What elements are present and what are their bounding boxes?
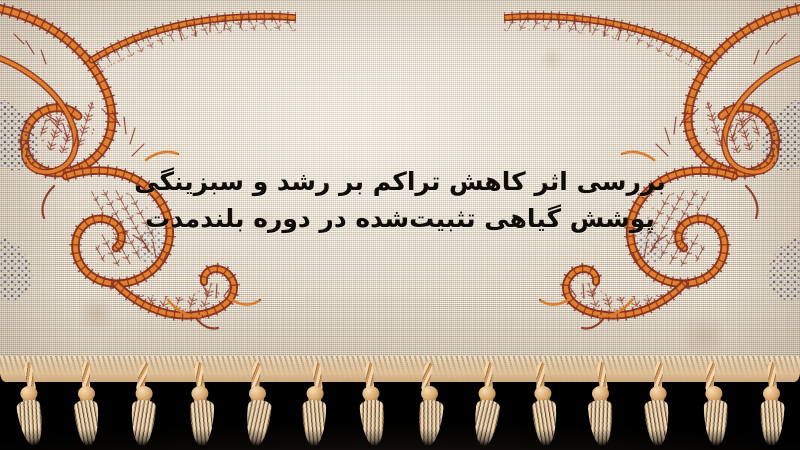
tassel-knot (78, 386, 95, 401)
tassel-skirt (416, 399, 445, 447)
tassel-skirt (73, 399, 100, 447)
tassel (12, 361, 46, 448)
tassel (697, 361, 731, 448)
tassel-skirt (244, 399, 273, 447)
tassel-skirt (704, 400, 729, 446)
tassel-skirt (644, 399, 670, 446)
tassel-knot (592, 386, 609, 401)
tassel-fringe (0, 362, 800, 450)
tassel (414, 362, 444, 448)
title-line-2: پوشش گیاهی تثبیت‌شده در دوره بلندمدت (0, 200, 800, 237)
tassel (469, 361, 503, 448)
tassel-knot (249, 386, 266, 401)
tassel (297, 361, 331, 448)
tassel (71, 362, 101, 448)
tassel-skirt (190, 400, 215, 446)
title-line-1: بررسی اثر کاهش تراکم بر رشد و سبزینگی (0, 163, 800, 200)
tassel (126, 361, 160, 448)
page-title: بررسی اثر کاهش تراکم بر رشد و سبزینگی پو… (0, 163, 800, 237)
tassel-skirt (130, 399, 156, 446)
tassel-skirt (587, 399, 614, 447)
tassel-skirt (359, 399, 387, 447)
tassel (354, 361, 388, 448)
tassel-skirt (15, 398, 46, 447)
title-card-image: بررسی اثر کاهش تراکم بر رشد و سبزینگی پو… (0, 0, 800, 450)
tassel (640, 361, 674, 448)
tassel (526, 361, 560, 448)
tassel (183, 361, 217, 448)
tassel-skirt (471, 399, 500, 448)
tassel-skirt (759, 400, 785, 447)
tassel-knot (763, 386, 780, 401)
tassel-skirt (532, 399, 558, 446)
tassel (242, 362, 272, 448)
tassel (756, 362, 786, 448)
tassel (585, 362, 615, 448)
tassel-knot (421, 386, 438, 401)
tassel-skirt (302, 400, 327, 446)
